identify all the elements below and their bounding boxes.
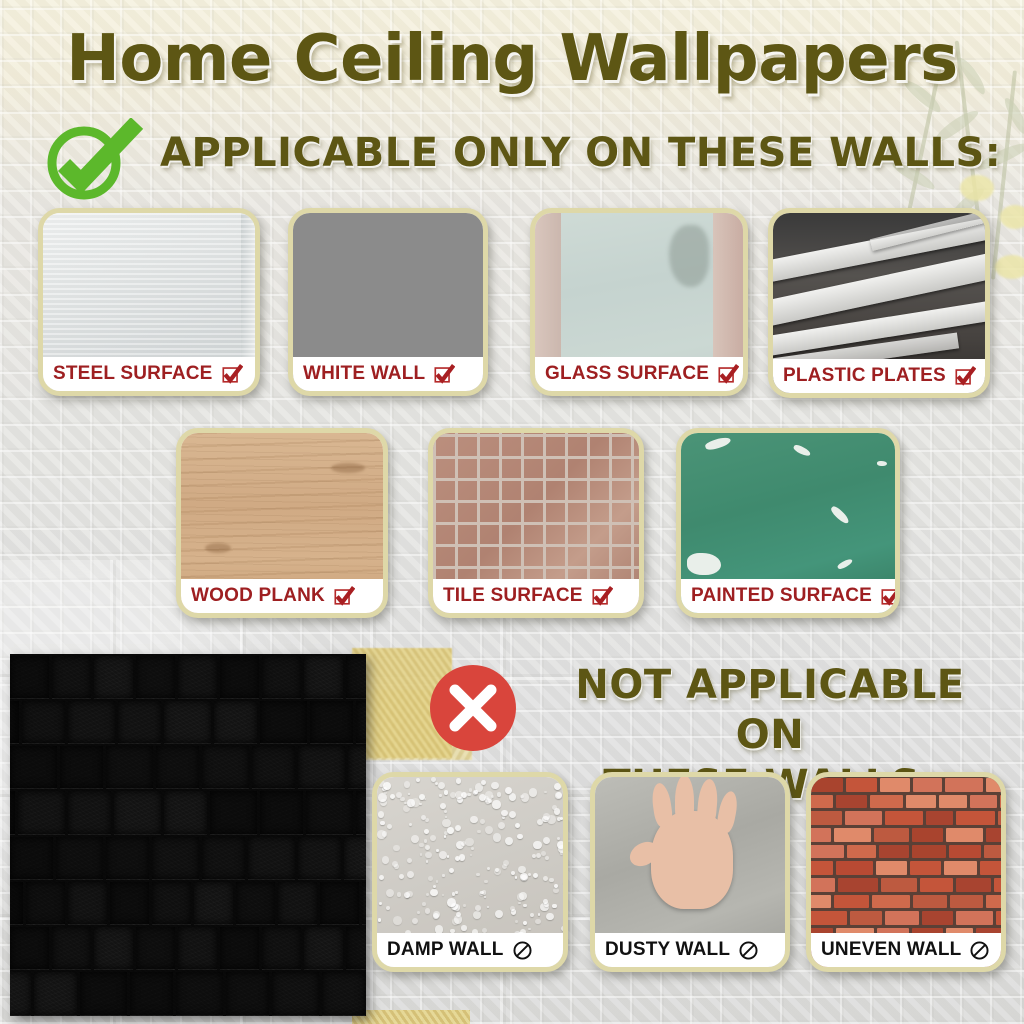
- poster-canvas: Home Ceiling Wallpapers APPLICABLE ONLY …: [0, 0, 1024, 1024]
- surface-card-painted[interactable]: PAINTED SURFACE: [676, 428, 900, 618]
- red-checkbox-icon: [433, 363, 455, 385]
- applicable-heading: APPLICABLE ONLY ON THESE WALLS:: [160, 130, 1001, 176]
- red-checkbox-icon: [954, 365, 976, 387]
- background-gold-patch-b: [352, 1010, 470, 1024]
- card-label-text: GLASS SURFACE: [545, 363, 709, 385]
- card-label-text: DAMP WALL: [387, 939, 504, 961]
- red-checkbox-icon: [221, 363, 243, 385]
- surface-card-damp[interactable]: DAMP WALL: [372, 772, 568, 972]
- prohibited-icon: [738, 940, 759, 961]
- card-label-text: WHITE WALL: [303, 363, 425, 385]
- red-cross-circle-icon: [430, 665, 516, 751]
- card-label-text: TILE SURFACE: [443, 585, 583, 607]
- product-image-black-brick-panel: [10, 654, 366, 1016]
- card-label: STEEL SURFACE: [43, 357, 255, 391]
- not-applicable-heading-line1: NOT APPLICABLE ON: [540, 660, 1000, 760]
- card-label-text: PLASTIC PLATES: [783, 365, 946, 387]
- card-label: UNEVEN WALL: [811, 933, 1001, 967]
- card-label: WOOD PLANK: [181, 579, 383, 613]
- prohibited-icon: [512, 940, 533, 961]
- card-label: WHITE WALL: [293, 357, 483, 391]
- card-label: GLASS SURFACE: [535, 357, 743, 391]
- page-title: Home Ceiling Wallpapers: [0, 22, 1024, 96]
- card-label-text: PAINTED SURFACE: [691, 585, 872, 607]
- surface-card-glass[interactable]: GLASS SURFACE: [530, 208, 748, 396]
- surface-card-dusty[interactable]: DUSTY WALL: [590, 772, 790, 972]
- red-checkbox-icon: [591, 585, 613, 607]
- card-label: PLASTIC PLATES: [773, 359, 985, 393]
- red-checkbox-icon: [333, 585, 355, 607]
- card-label: DUSTY WALL: [595, 933, 785, 967]
- surface-card-wood[interactable]: WOOD PLANK: [176, 428, 388, 618]
- surface-card-steel[interactable]: STEEL SURFACE: [38, 208, 260, 396]
- card-label-text: DUSTY WALL: [605, 939, 730, 961]
- card-label: DAMP WALL: [377, 933, 563, 967]
- red-checkbox-icon: [717, 363, 739, 385]
- card-label: TILE SURFACE: [433, 579, 639, 613]
- green-check-circle-icon: [36, 118, 146, 200]
- surface-card-plastic[interactable]: PLASTIC PLATES: [768, 208, 990, 398]
- red-checkbox-icon: [880, 585, 900, 607]
- card-label-text: WOOD PLANK: [191, 585, 325, 607]
- card-label-text: UNEVEN WALL: [821, 939, 961, 961]
- card-label: PAINTED SURFACE: [681, 579, 895, 613]
- prohibited-icon: [969, 940, 990, 961]
- surface-card-uneven[interactable]: UNEVEN WALL: [806, 772, 1006, 972]
- card-label-text: STEEL SURFACE: [53, 363, 213, 385]
- surface-card-white-wall[interactable]: WHITE WALL: [288, 208, 488, 396]
- surface-card-tile[interactable]: TILE SURFACE: [428, 428, 644, 618]
